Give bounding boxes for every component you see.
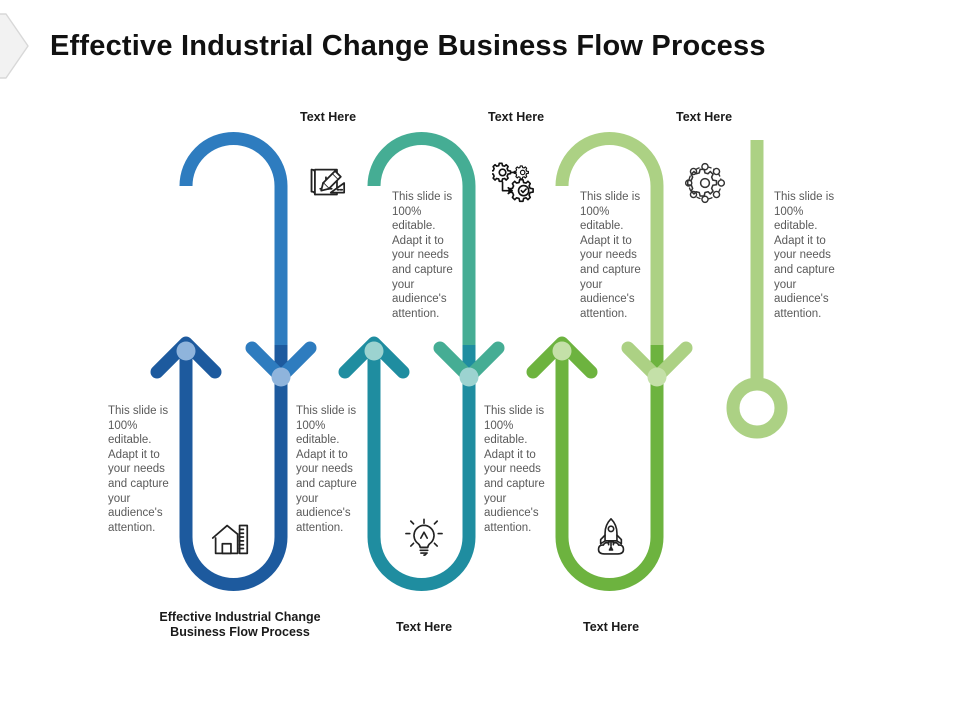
flow-diagram (0, 0, 960, 720)
flow-green-up-node (553, 342, 572, 361)
flow-blue-up-node (177, 342, 196, 361)
gear-network-icon (682, 160, 728, 206)
body-text-block-1: This slide is 100% editable. Adapt it to… (108, 404, 184, 535)
body-text-block-4: This slide is 100% editable. Adapt it to… (392, 190, 468, 321)
bottom-label-1: Effective Industrial Change Business Flo… (145, 610, 335, 640)
flow-green-down-node (648, 368, 667, 387)
gears-process-icon (492, 160, 538, 206)
body-text-block-6: This slide is 100% editable. Adapt it to… (774, 190, 850, 321)
flow-teal-down-node (460, 368, 479, 387)
flow-green-tail-ring (733, 384, 781, 432)
top-label-1: Text Here (300, 110, 356, 124)
flow-blue-down-path (186, 139, 281, 346)
bottom-label-2: Text Here (396, 620, 452, 634)
body-text-block-2: This slide is 100% editable. Adapt it to… (296, 404, 372, 535)
slide-canvas: Effective Industrial Change Business Flo… (0, 0, 960, 720)
lightbulb-icon (402, 518, 446, 562)
body-text-block-5: This slide is 100% editable. Adapt it to… (580, 190, 656, 321)
bottom-label-3: Text Here (583, 620, 639, 634)
flow-blue-down-node (272, 368, 291, 387)
flow-teal-up-node (365, 342, 384, 361)
blueprint-drafting-icon (302, 160, 348, 206)
top-label-2: Text Here (488, 110, 544, 124)
house-ruler-icon (207, 515, 253, 561)
rocket-launch-icon (588, 515, 634, 561)
top-label-3: Text Here (676, 110, 732, 124)
body-text-block-3: This slide is 100% editable. Adapt it to… (484, 404, 560, 535)
